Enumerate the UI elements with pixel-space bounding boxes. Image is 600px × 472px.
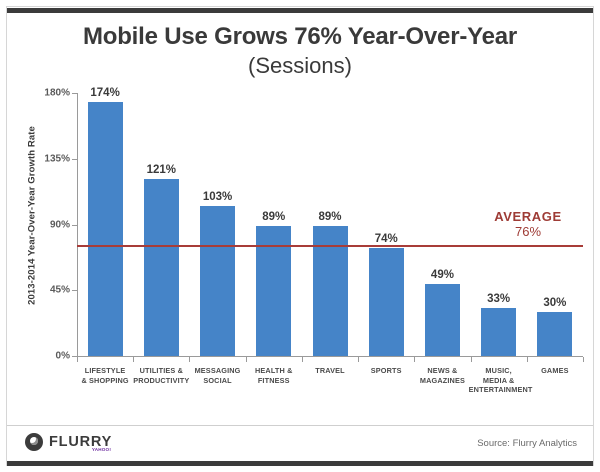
category-label: MUSIC,MEDIA &ENTERTAINMENT bbox=[469, 366, 529, 395]
bar-value-label: 49% bbox=[412, 269, 472, 281]
bar bbox=[88, 102, 123, 356]
bar bbox=[425, 284, 460, 356]
category-label: HEALTH &FITNESS bbox=[244, 366, 304, 385]
x-axis-line bbox=[77, 356, 583, 357]
average-annotation: AVERAGE 76% bbox=[473, 209, 583, 240]
category-label-line: & SHOPPING bbox=[75, 376, 135, 386]
category-label: MESSAGINGSOCIAL bbox=[188, 366, 248, 385]
flurry-wordmark: FLURRY YAHOO! bbox=[49, 433, 112, 451]
category-label-line: MAGAZINES bbox=[412, 376, 472, 386]
y-tick-label: 180% bbox=[26, 88, 70, 99]
x-tick-mark bbox=[358, 357, 359, 362]
average-label-text: AVERAGE bbox=[473, 209, 583, 224]
bar bbox=[369, 248, 404, 356]
category-label-line: SOCIAL bbox=[188, 376, 248, 386]
x-tick-mark bbox=[246, 357, 247, 362]
category-label-line: ENTERTAINMENT bbox=[469, 385, 529, 395]
category-label: SPORTS bbox=[356, 366, 416, 376]
category-label-line: GAMES bbox=[525, 366, 585, 376]
flurry-logo: FLURRY YAHOO! bbox=[25, 433, 112, 451]
bar bbox=[481, 308, 516, 356]
x-tick-mark bbox=[527, 357, 528, 362]
x-tick-mark bbox=[77, 357, 78, 362]
y-tick-mark bbox=[72, 225, 77, 226]
plot-area: 2013-2014 Year-Over-Year Growth Rate 0%4… bbox=[0, 0, 600, 472]
y-tick-label: 45% bbox=[26, 285, 70, 296]
category-label-line: HEALTH & bbox=[244, 366, 304, 376]
x-tick-mark bbox=[133, 357, 134, 362]
bar-value-label: 174% bbox=[75, 87, 135, 99]
y-tick-label: 0% bbox=[26, 351, 70, 362]
y-tick-label: 90% bbox=[26, 219, 70, 230]
category-label-line: MESSAGING bbox=[188, 366, 248, 376]
bar-value-label: 103% bbox=[188, 191, 248, 203]
category-label: TRAVEL bbox=[300, 366, 360, 376]
x-tick-mark bbox=[414, 357, 415, 362]
y-axis-title: 2013-2014 Year-Over-Year Growth Rate bbox=[27, 96, 38, 336]
source-attribution: Source: Flurry Analytics bbox=[477, 438, 577, 449]
category-label-line: MEDIA & bbox=[469, 376, 529, 386]
y-tick-mark bbox=[72, 159, 77, 160]
category-label-line: FITNESS bbox=[244, 376, 304, 386]
x-tick-mark bbox=[302, 357, 303, 362]
x-tick-mark bbox=[583, 357, 584, 362]
average-value-text: 76% bbox=[473, 224, 583, 240]
bar-value-label: 30% bbox=[525, 297, 585, 309]
category-label-line: PRODUCTIVITY bbox=[131, 376, 191, 386]
category-label: LIFESTYLE& SHOPPING bbox=[75, 366, 135, 385]
category-label-line: LIFESTYLE bbox=[75, 366, 135, 376]
category-label-line: MUSIC, bbox=[469, 366, 529, 376]
bar-value-label: 89% bbox=[244, 211, 304, 223]
bar bbox=[537, 312, 572, 356]
category-label-line: UTILITIES & bbox=[131, 366, 191, 376]
bar-value-label: 33% bbox=[469, 293, 529, 305]
bar bbox=[200, 206, 235, 356]
category-label: GAMES bbox=[525, 366, 585, 376]
infographic-root: Mobile Use Grows 76% Year-Over-Year (Ses… bbox=[0, 0, 600, 472]
y-tick-label: 135% bbox=[26, 153, 70, 164]
yahoo-subbrand-text: YAHOO! bbox=[92, 447, 111, 452]
y-tick-mark bbox=[72, 290, 77, 291]
bar-value-label: 74% bbox=[356, 233, 416, 245]
y-axis-line bbox=[77, 93, 78, 357]
average-reference-line bbox=[77, 245, 583, 247]
category-label: NEWS &MAGAZINES bbox=[412, 366, 472, 385]
footer: FLURRY YAHOO! Source: Flurry Analytics bbox=[7, 426, 593, 461]
bar-value-label: 121% bbox=[131, 164, 191, 176]
bar bbox=[144, 179, 179, 356]
flurry-circle-icon bbox=[25, 433, 43, 451]
category-label-line: TRAVEL bbox=[300, 366, 360, 376]
category-label: UTILITIES &PRODUCTIVITY bbox=[131, 366, 191, 385]
category-label-line: SPORTS bbox=[356, 366, 416, 376]
x-tick-mark bbox=[189, 357, 190, 362]
bar-value-label: 89% bbox=[300, 211, 360, 223]
category-label-line: NEWS & bbox=[412, 366, 472, 376]
x-tick-mark bbox=[471, 357, 472, 362]
